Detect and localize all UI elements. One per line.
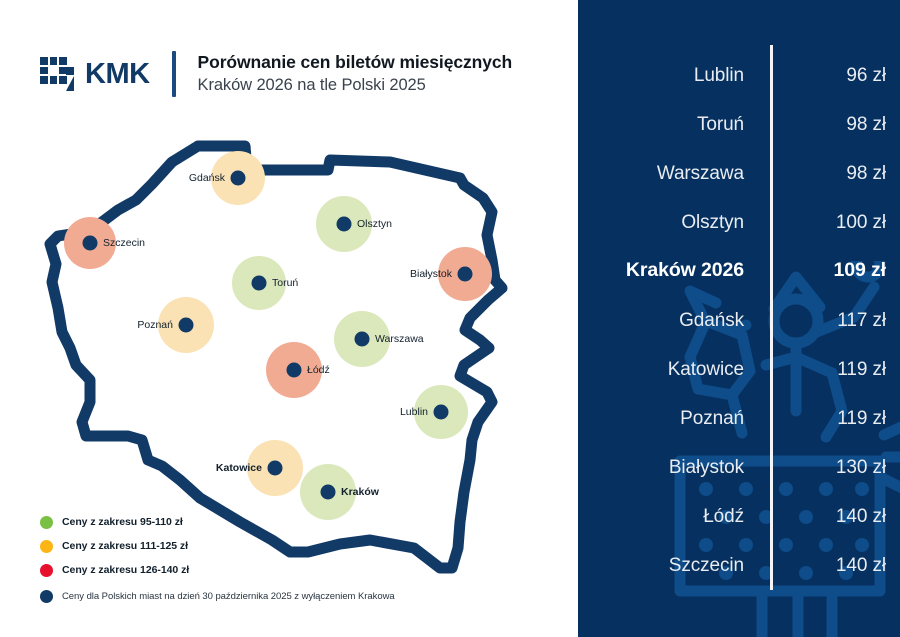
kmk-square-blocks-logo-icon <box>40 57 74 91</box>
left-pane: KMK Porównanie cen biletów miesięcznych … <box>0 0 578 637</box>
city-dot <box>231 171 246 186</box>
city-label: Szczecin <box>103 238 145 249</box>
price-row[interactable]: Kraków 2026109 zł <box>578 254 900 288</box>
price-row-city: Toruń <box>697 115 744 134</box>
legend-label: Ceny z zakresu 111-125 zł <box>62 541 188 552</box>
page-subtitle: Kraków 2026 na tle Polski 2025 <box>198 75 513 97</box>
price-row[interactable]: Warszawa98 zł <box>578 156 900 190</box>
city-dot <box>179 318 194 333</box>
price-row[interactable]: Szczecin140 zł <box>578 548 900 582</box>
price-row-city: Kraków 2026 <box>626 261 744 281</box>
price-row-value: 100 zł <box>790 213 886 232</box>
legend-color-dot-icon <box>40 516 53 529</box>
city-dot <box>252 276 267 291</box>
city-label: Olsztyn <box>357 219 392 230</box>
price-table: Lublin96 złToruń98 złWarszawa98 złOlszty… <box>578 0 900 637</box>
legend-item: Ceny z zakresu 126-140 zł <box>40 558 189 582</box>
city-dot <box>268 461 283 476</box>
city-dot <box>434 405 449 420</box>
city-label: Łódź <box>307 365 330 376</box>
city-label: Białystok <box>410 269 452 280</box>
city-dot <box>287 363 302 378</box>
price-row[interactable]: Olsztyn100 zł <box>578 205 900 239</box>
legend-label: Ceny z zakresu 126-140 zł <box>62 565 189 576</box>
legend-item: Ceny z zakresu 95-110 zł <box>40 510 189 534</box>
price-row-value: 98 zł <box>790 164 886 183</box>
city-label: Gdańsk <box>189 173 225 184</box>
city-label: Warszawa <box>375 334 424 345</box>
price-row-city: Poznań <box>680 409 744 428</box>
price-row-value: 119 zł <box>790 409 886 428</box>
price-row-city: Lublin <box>694 66 744 85</box>
price-row-value: 119 zł <box>790 360 886 379</box>
price-row[interactable]: Toruń98 zł <box>578 107 900 141</box>
price-row-city: Katowice <box>668 360 744 379</box>
price-row-city: Gdańsk <box>679 311 744 330</box>
city-label: Poznań <box>137 320 173 331</box>
legend-label: Ceny z zakresu 95-110 zł <box>62 517 183 528</box>
city-label: Lublin <box>400 407 428 418</box>
legend-item: Ceny z zakresu 111-125 zł <box>40 534 189 558</box>
city-dot <box>458 267 473 282</box>
price-row-value: 117 zł <box>790 311 886 330</box>
header: KMK Porównanie cen biletów miesięcznych … <box>40 46 512 102</box>
legend-color-dot-icon <box>40 564 53 577</box>
price-row-value: 109 zł <box>790 261 886 281</box>
legend-color-dot-icon <box>40 540 53 553</box>
price-row-city: Białystok <box>669 458 744 477</box>
city-label: Katowice <box>216 463 262 474</box>
legend: Ceny z zakresu 95-110 złCeny z zakresu 1… <box>40 510 189 582</box>
footnote-label: Ceny dla Polskich miast na dzień 30 paźd… <box>62 592 395 602</box>
city-label: Kraków <box>341 487 379 498</box>
price-row[interactable]: Białystok130 zł <box>578 450 900 484</box>
city-dot <box>355 332 370 347</box>
city-dot <box>337 217 352 232</box>
title-block: Porównanie cen biletów miesięcznych Krak… <box>198 51 513 97</box>
price-row-value: 140 zł <box>790 556 886 575</box>
price-row-city: Olsztyn <box>681 213 744 232</box>
price-row[interactable]: Katowice119 zł <box>578 352 900 386</box>
price-row-value: 130 zł <box>790 458 886 477</box>
price-row[interactable]: Łódź140 zł <box>578 499 900 533</box>
price-row-value: 140 zł <box>790 507 886 526</box>
page-title: Porównanie cen biletów miesięcznych <box>198 51 513 74</box>
brand-logo-text: KMK <box>85 60 150 89</box>
header-divider <box>172 51 176 97</box>
price-row-city: Warszawa <box>657 164 744 183</box>
price-row-value: 96 zł <box>790 66 886 85</box>
price-row[interactable]: Lublin96 zł <box>578 58 900 92</box>
price-row-value: 98 zł <box>790 115 886 134</box>
city-dot <box>83 236 98 251</box>
city-label: Toruń <box>272 278 298 289</box>
price-row[interactable]: Poznań119 zł <box>578 401 900 435</box>
price-row[interactable]: Gdańsk117 zł <box>578 303 900 337</box>
infographic-page: KMK Porównanie cen biletów miesięcznych … <box>0 0 900 637</box>
price-row-city: Łódź <box>703 507 744 526</box>
city-dot <box>321 485 336 500</box>
price-row-city: Szczecin <box>669 556 744 575</box>
legend-footnote: Ceny dla Polskich miast na dzień 30 paźd… <box>40 590 395 603</box>
footnote-dot-icon <box>40 590 53 603</box>
price-panel: Lublin96 złToruń98 złWarszawa98 złOlszty… <box>578 0 900 637</box>
